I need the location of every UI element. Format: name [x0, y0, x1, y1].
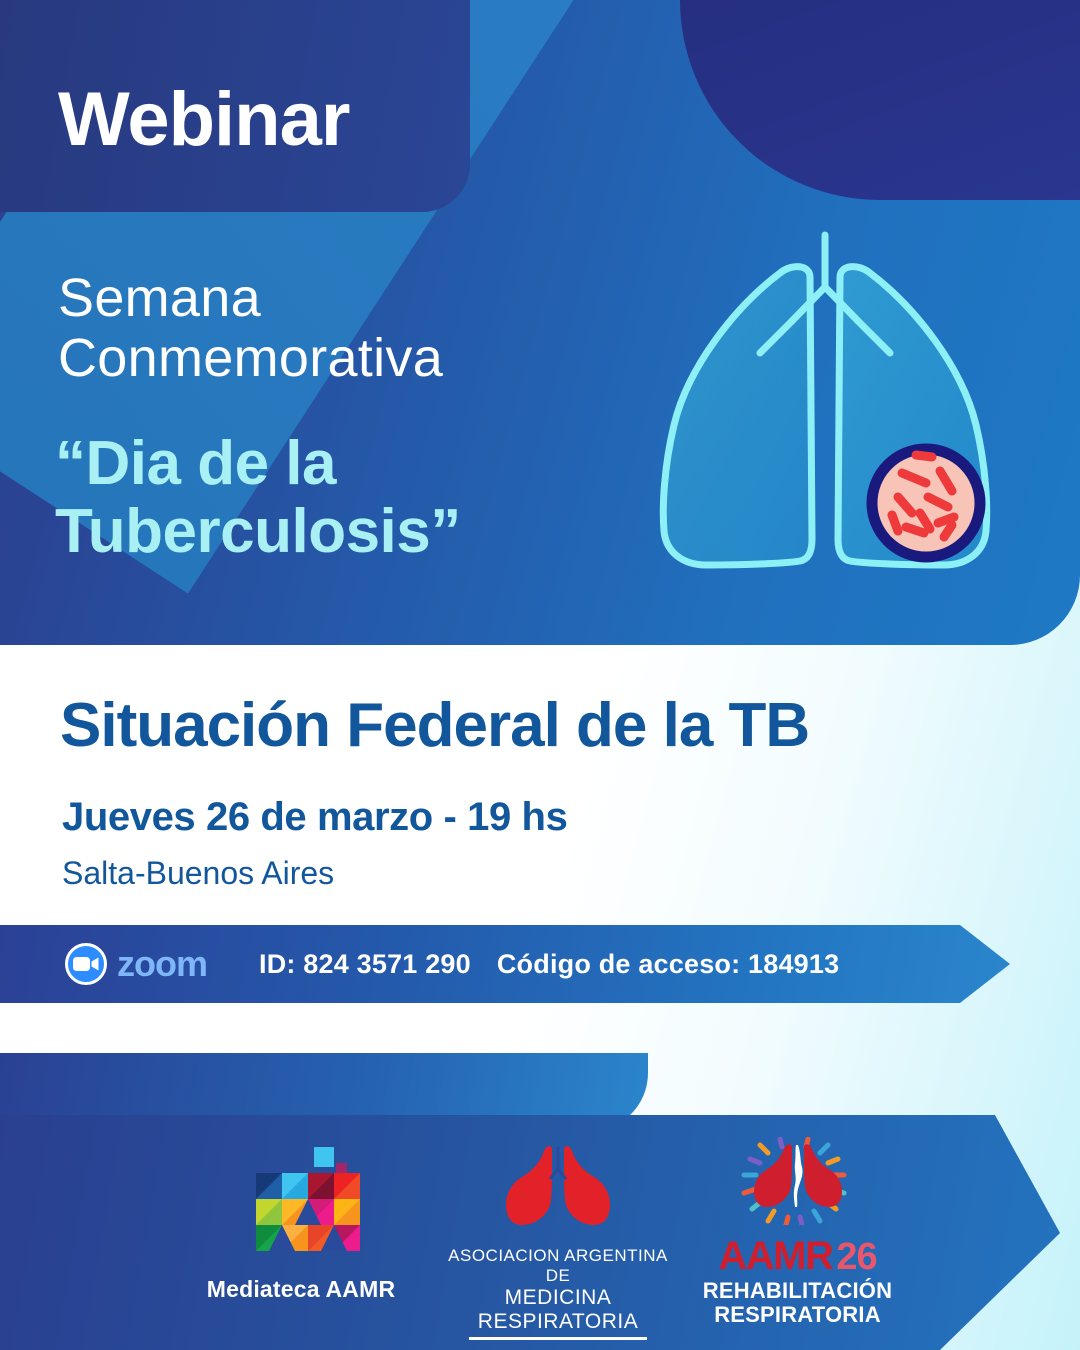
event-quoted-title: “Dia de la Tuberculosis” [55, 430, 461, 566]
logo-aamr26-wordmark: AAMR 26 [690, 1234, 905, 1279]
lungs-hands-argentina-icon [738, 1137, 858, 1225]
left-lung-shape [663, 267, 812, 565]
video-camera-icon [65, 943, 107, 985]
red-lungs-icon [502, 1143, 614, 1235]
event-subtitle-line2: Conmemorativa [58, 328, 443, 388]
event-quoted-title-line2: Tuberculosis” [55, 498, 461, 566]
mediateca-mosaic-m-icon [236, 1145, 366, 1255]
logo-aamr26-line1: REHABILITACIÓN [690, 1279, 905, 1303]
zoom-logo: zoom [65, 943, 207, 985]
logo-aamr-line1: ASOCIACION ARGENTINA DE [443, 1246, 673, 1286]
webinar-label: Webinar [58, 82, 349, 158]
logo-aamr26-number: 26 [836, 1236, 876, 1279]
event-location: Salta-Buenos Aires [62, 855, 334, 892]
zoom-access-code: Código de acceso: 184913 [497, 949, 839, 980]
logo-row: Mediateca AAMR ASOCIACION ARGENTINA DE M… [0, 1135, 1060, 1335]
event-quoted-title-line1: “Dia de la [55, 430, 461, 498]
logo-aamr26-line2: RESPIRATORIA [690, 1303, 905, 1327]
logo-mediateca: Mediateca AAMR [196, 1145, 406, 1303]
event-date: Jueves 26 de marzo - 19 hs [62, 795, 567, 840]
event-subtitle-line1: Semana [58, 268, 443, 328]
camera-glyph [73, 956, 99, 972]
zoom-wordmark: zoom [117, 943, 207, 985]
logo-mediateca-label: Mediateca AAMR [196, 1276, 406, 1303]
zoom-info-bar: zoom ID: 824 3571 290 Código de acceso: … [0, 925, 1010, 1003]
header-navy-blob [680, 0, 1080, 200]
logo-aamr-line2: MEDICINA RESPIRATORIA [443, 1286, 673, 1334]
logo-aamr-underline [469, 1337, 647, 1340]
tb-bacteria-icon [872, 449, 980, 557]
logo-aamr26: AAMR 26 REHABILITACIÓN RESPIRATORIA [690, 1137, 905, 1327]
header-panel: Webinar Semana Conmemorativa “Dia de la … [0, 0, 1080, 645]
webinar-poster: Webinar Semana Conmemorativa “Dia de la … [0, 0, 1080, 1350]
logo-aamr: ASOCIACION ARGENTINA DE MEDICINA RESPIRA… [443, 1143, 673, 1340]
event-subtitle: Semana Conmemorativa [58, 268, 443, 389]
logo-aamr26-brand: AAMR [718, 1234, 832, 1279]
lungs-icon [640, 225, 1040, 605]
page-title: Situación Federal de la TB [60, 690, 809, 761]
zoom-meeting-id: ID: 824 3571 290 [259, 949, 471, 980]
